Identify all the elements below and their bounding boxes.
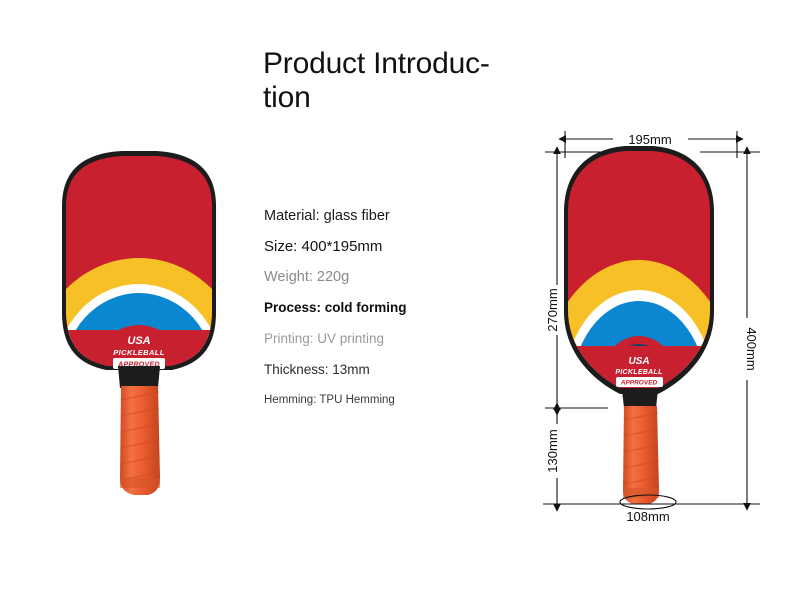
page-title-line-1: Product Introduc- xyxy=(263,47,490,80)
spec-item-printing: Printing: UV printing xyxy=(264,331,479,346)
spec-item-thickness: Thickness: 13mm xyxy=(264,362,479,377)
paddle-illustration-left: USA PICKLEBALL APPROVED xyxy=(48,148,248,508)
badge-line-pickleball: PICKLEBALL xyxy=(113,348,165,357)
specification-list: Material: glass fiber Size: 400*195mm We… xyxy=(264,208,479,406)
badge-line-usa: USA xyxy=(628,356,649,367)
page-title-line-2: tion xyxy=(263,81,311,114)
paddle-illustration-right: USA PICKLEBALL APPROVED xyxy=(552,142,727,512)
spec-item-process: Process: cold forming xyxy=(264,300,479,315)
spec-item-size: Size: 400*195mm xyxy=(264,238,479,255)
paddle-left-svg: USA PICKLEBALL APPROVED xyxy=(48,148,248,508)
dim-label-400mm: 400mm xyxy=(744,327,759,370)
paddle-right-svg: USA PICKLEBALL APPROVED xyxy=(552,142,727,512)
grip-butt-cap xyxy=(623,488,659,498)
paddle-right-collar xyxy=(622,390,658,408)
badge-line-pickleball: PICKLEBALL xyxy=(615,369,662,376)
page-title: Product Introduc- tion xyxy=(263,47,508,114)
grip-butt-cap xyxy=(120,478,160,488)
paddle-left-collar xyxy=(118,366,160,388)
spec-item-hemming: Hemming: TPU Hemming xyxy=(264,394,479,406)
spec-item-weight: Weight: 220g xyxy=(264,269,479,285)
product-introduction-page: Product Introduc- tion Material: glass f… xyxy=(0,0,790,597)
badge-line-usa: USA xyxy=(127,335,150,347)
badge-line-approved: APPROVED xyxy=(620,380,658,387)
spec-item-material: Material: glass fiber xyxy=(264,208,479,224)
